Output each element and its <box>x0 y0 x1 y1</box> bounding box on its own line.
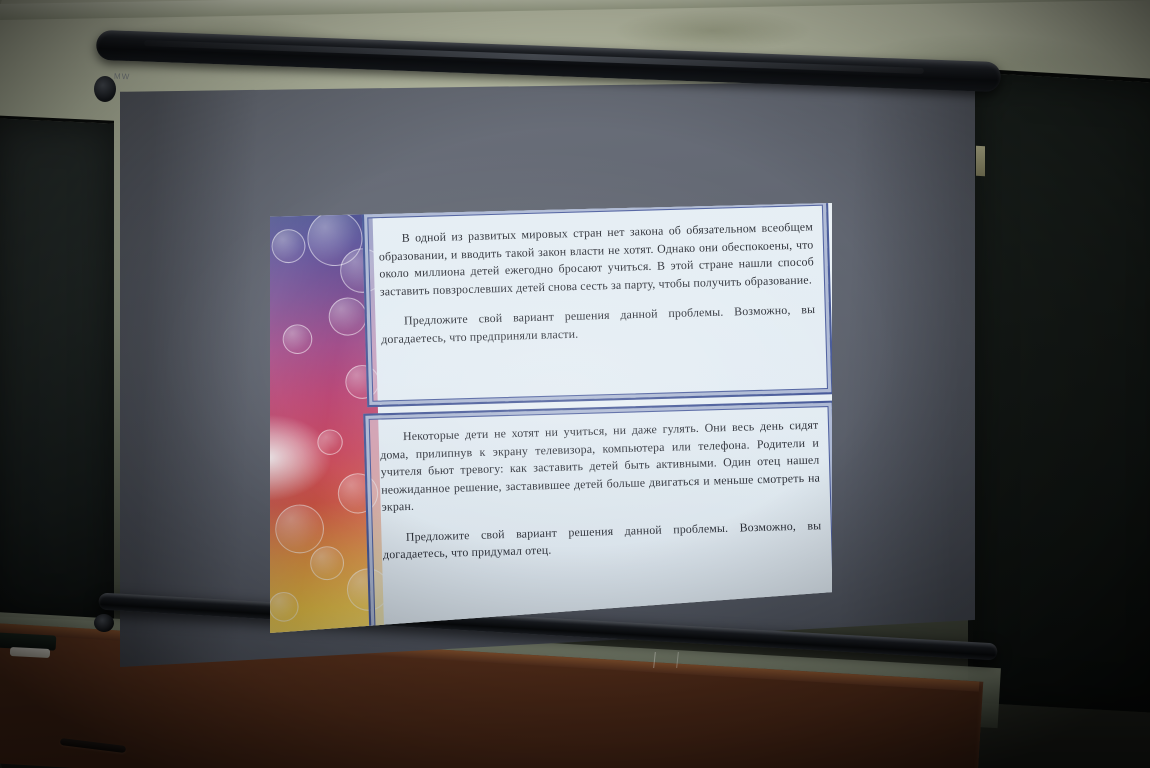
roller-end-cap <box>94 76 116 102</box>
slide-paragraph: Предложите свой вариант решения данной п… <box>367 301 830 349</box>
roller-brand-mark: MW <box>114 72 131 82</box>
slide-paragraph: Некоторые дети не хотят ни учиться, ни д… <box>365 403 832 518</box>
screenshot-stage: MW <box>0 0 1150 768</box>
slide-content: В одной из развитых мировых стран нет за… <box>270 203 832 633</box>
slide-paragraph: В одной из развитых мировых стран нет за… <box>364 203 828 302</box>
weight-bar-end-cap <box>94 613 115 632</box>
blackboard-left <box>0 115 114 624</box>
projected-slide: В одной из развитых мировых стран нет за… <box>270 203 832 633</box>
text-box-1: В одной из развитых мировых стран нет за… <box>362 203 832 407</box>
blackboard-right <box>968 68 1150 713</box>
slide-paragraph: Предложите свой вариант решения данной п… <box>369 517 832 565</box>
pull-cord[interactable] <box>653 652 679 668</box>
